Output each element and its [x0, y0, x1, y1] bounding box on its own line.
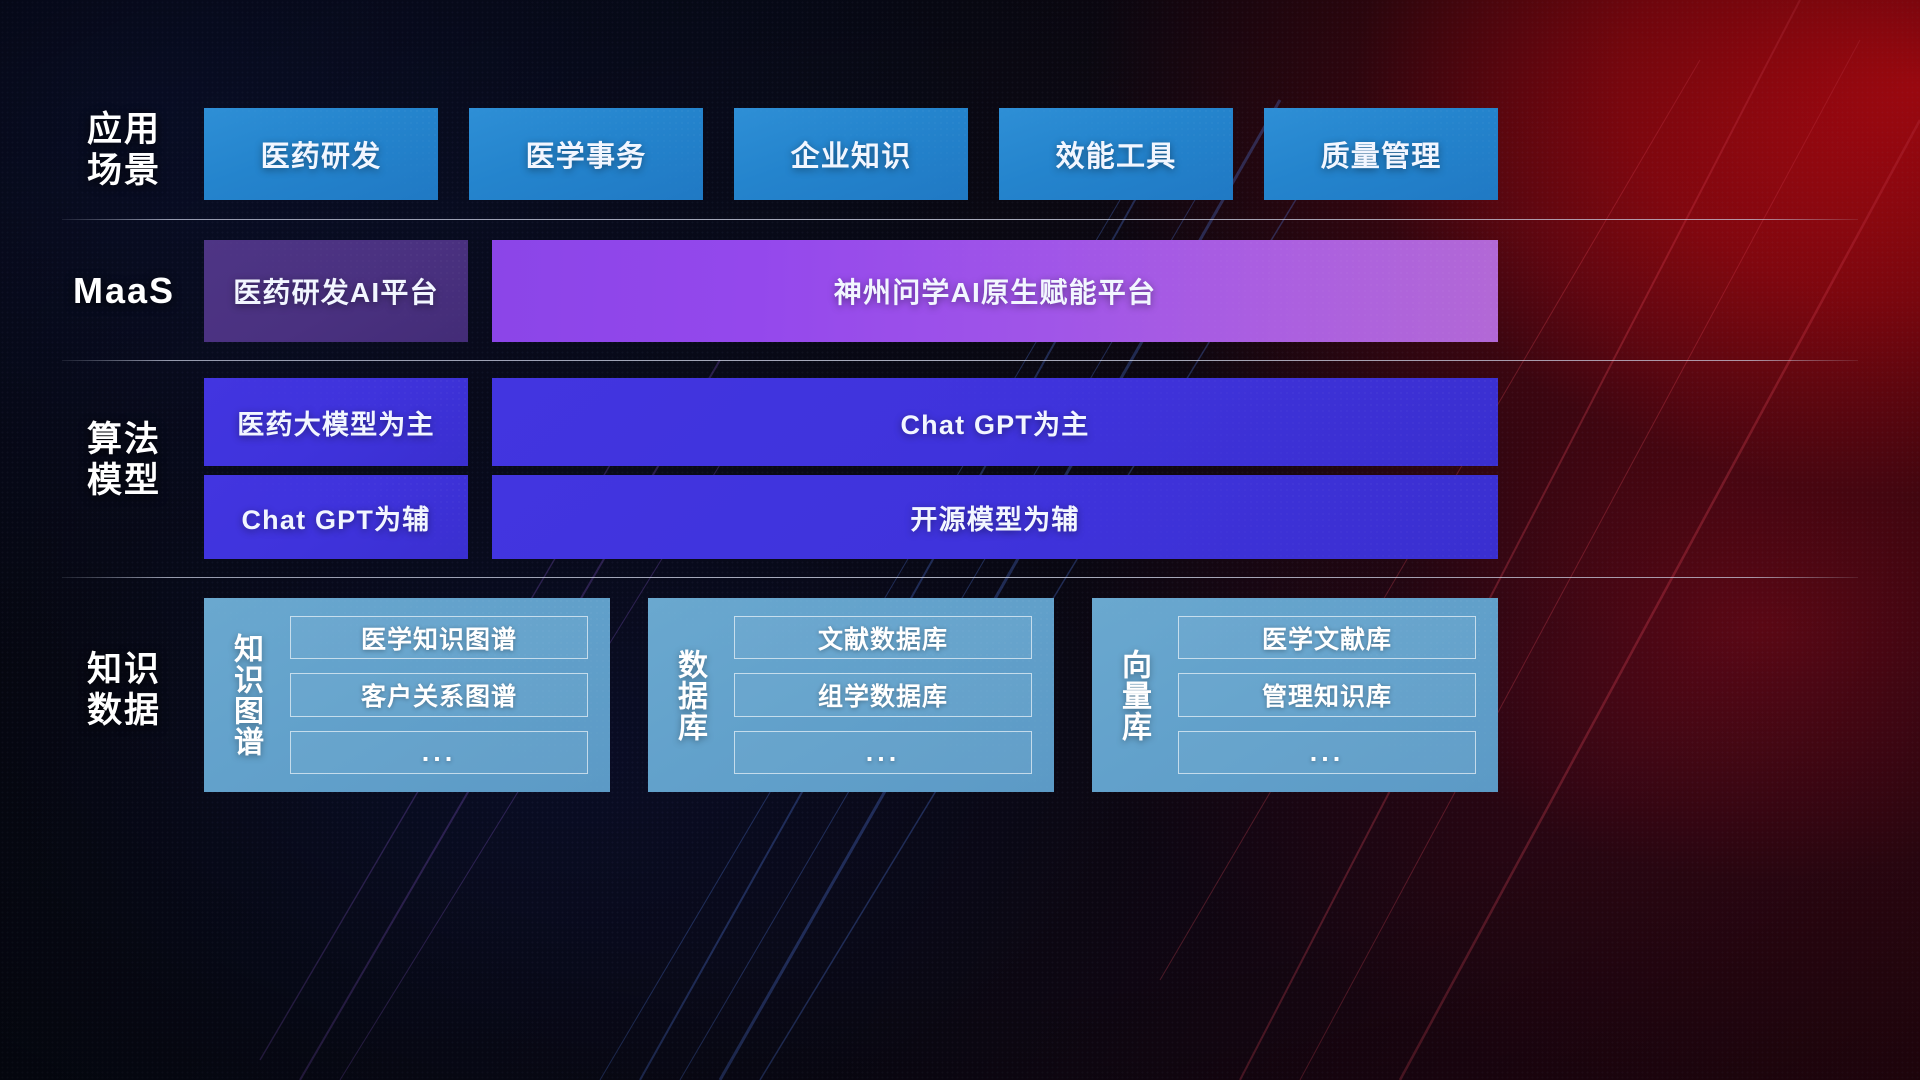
- knowledge-panel-database-title: 数据库: [648, 598, 730, 792]
- knowledge-panel-database[interactable]: 数据库 文献数据库 组学数据库 ...: [648, 598, 1054, 792]
- knowledge-item[interactable]: 管理知识库: [1178, 673, 1476, 716]
- separator-application-maas: [62, 219, 1858, 220]
- knowledge-panel-graph-items: 医学知识图谱 客户关系图谱 ...: [286, 598, 610, 792]
- app-cell-2-label: 企业知识: [791, 133, 912, 175]
- algo-cell-pharma-primary[interactable]: 医药大模型为主: [204, 378, 468, 466]
- app-cell-0-label: 医药研发: [261, 133, 382, 175]
- knowledge-panel-vector-title: 向量库: [1092, 598, 1174, 792]
- knowledge-item[interactable]: 医学知识图谱: [290, 616, 588, 659]
- row-label-algorithm: 算法 模型: [62, 420, 186, 501]
- algo-cell-gpt-secondary[interactable]: Chat GPT为辅: [204, 475, 468, 559]
- row-label-application: 应用 场景: [62, 110, 186, 191]
- knowledge-panel-vector-items: 医学文献库 管理知识库 ...: [1174, 598, 1498, 792]
- row-label-knowledge: 知识 数据: [62, 650, 186, 731]
- knowledge-item[interactable]: ...: [290, 731, 588, 774]
- knowledge-panel-graph[interactable]: 知识图谱 医学知识图谱 客户关系图谱 ...: [204, 598, 610, 792]
- algo-cell-opensource-secondary[interactable]: 开源模型为辅: [492, 475, 1498, 559]
- app-cell-0[interactable]: 医药研发: [204, 108, 438, 200]
- maas-cell-platform-label: 医药研发AI平台: [233, 271, 439, 311]
- algo-cell-gpt-primary[interactable]: Chat GPT为主: [492, 378, 1498, 466]
- knowledge-item[interactable]: ...: [1178, 731, 1476, 774]
- separator-algorithm-knowledge: [62, 577, 1858, 578]
- knowledge-item[interactable]: ...: [734, 731, 1032, 774]
- app-cell-3[interactable]: 效能工具: [999, 108, 1233, 200]
- row-label-maas: MaaS: [62, 270, 186, 312]
- knowledge-item[interactable]: 组学数据库: [734, 673, 1032, 716]
- maas-cell-enablement[interactable]: 神州问学AI原生赋能平台: [492, 240, 1498, 342]
- app-cell-4-label: 质量管理: [1321, 133, 1442, 175]
- maas-cell-enablement-label: 神州问学AI原生赋能平台: [834, 271, 1156, 311]
- algo-cell-gpt-primary-label: Chat GPT为主: [900, 403, 1089, 442]
- app-cell-2[interactable]: 企业知识: [734, 108, 968, 200]
- knowledge-item[interactable]: 文献数据库: [734, 616, 1032, 659]
- algo-cell-gpt-secondary-label: Chat GPT为辅: [241, 498, 430, 537]
- knowledge-panel-database-items: 文献数据库 组学数据库 ...: [730, 598, 1054, 792]
- algo-cell-pharma-primary-label: 医药大模型为主: [237, 403, 434, 442]
- knowledge-panel-vector[interactable]: 向量库 医学文献库 管理知识库 ...: [1092, 598, 1498, 792]
- app-cell-1[interactable]: 医学事务: [469, 108, 703, 200]
- maas-cell-platform[interactable]: 医药研发AI平台: [204, 240, 468, 342]
- separator-maas-algorithm: [62, 360, 1858, 361]
- app-cell-4[interactable]: 质量管理: [1264, 108, 1498, 200]
- knowledge-item[interactable]: 医学文献库: [1178, 616, 1476, 659]
- app-cell-1-label: 医学事务: [526, 133, 647, 175]
- algo-cell-opensource-secondary-label: 开源模型为辅: [910, 498, 1079, 537]
- app-cell-3-label: 效能工具: [1056, 133, 1177, 175]
- knowledge-item[interactable]: 客户关系图谱: [290, 673, 588, 716]
- knowledge-panel-graph-title: 知识图谱: [204, 598, 286, 792]
